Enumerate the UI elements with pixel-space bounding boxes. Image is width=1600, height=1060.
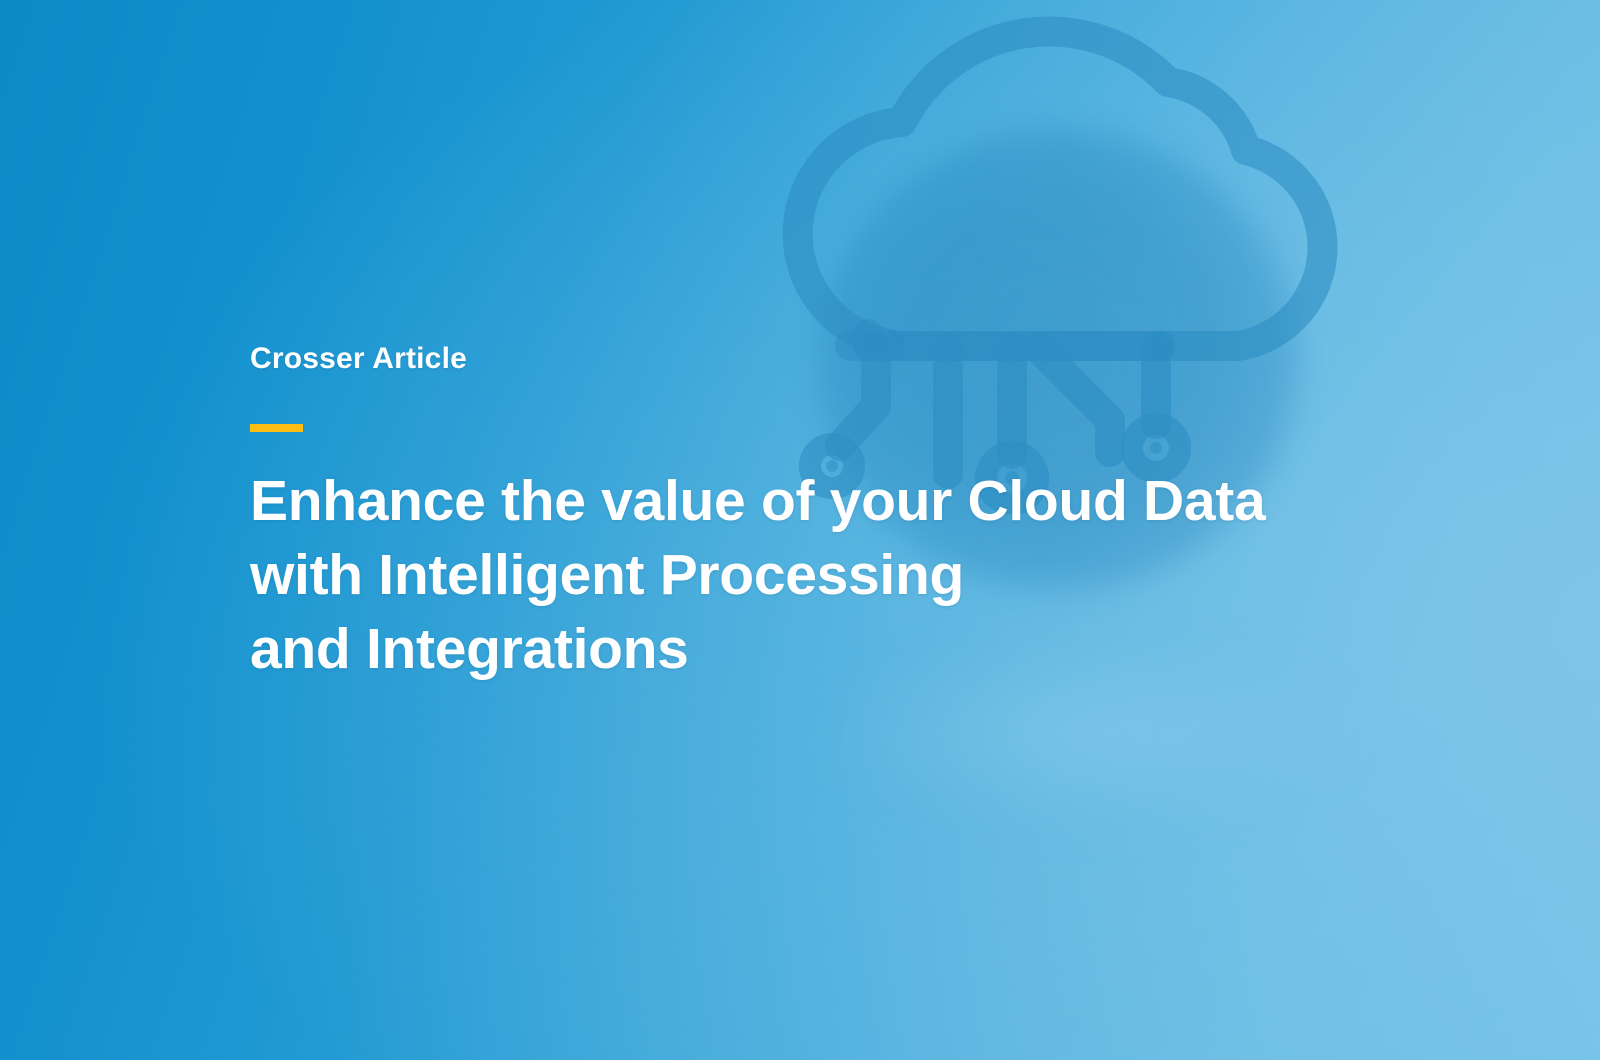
page-title: Enhance the value of your Cloud Data wit… bbox=[250, 464, 1380, 686]
background-sheen bbox=[820, 640, 1600, 1060]
article-hero-banner: Crosser Article Enhance the value of you… bbox=[0, 0, 1600, 1060]
accent-rule bbox=[250, 424, 303, 432]
eyebrow-label: Crosser Article bbox=[250, 340, 1380, 378]
hero-content: Crosser Article Enhance the value of you… bbox=[250, 340, 1380, 686]
